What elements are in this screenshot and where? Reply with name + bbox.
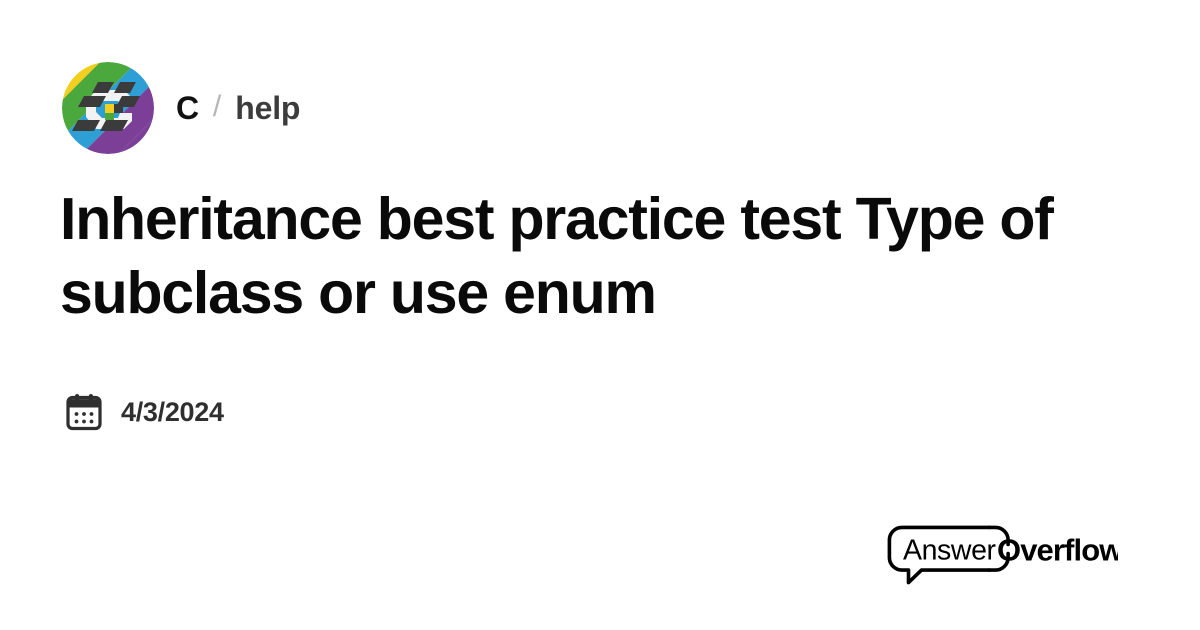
og-image-card: C / help Inheritance best practice test … xyxy=(0,0,1200,630)
logo-word-answer: Answer xyxy=(903,535,997,567)
breadcrumb-channel-name[interactable]: help xyxy=(235,92,300,124)
logo-word-overflow: Overflow xyxy=(997,533,1118,568)
breadcrumb: C / help xyxy=(62,62,300,154)
page-title: Inheritance best practice test Type of s… xyxy=(60,182,1130,331)
breadcrumb-separator-icon: / xyxy=(213,92,221,122)
server-avatar-rainbow-c-icon xyxy=(62,62,154,154)
calendar-icon xyxy=(64,392,104,432)
post-date-value: 4/3/2024 xyxy=(121,399,224,426)
breadcrumb-items: C / help xyxy=(176,92,300,124)
breadcrumb-server-name[interactable]: C xyxy=(176,92,199,124)
post-date: 4/3/2024 xyxy=(64,392,224,432)
answer-overflow-logo[interactable]: Answer Overflow xyxy=(886,524,1118,586)
